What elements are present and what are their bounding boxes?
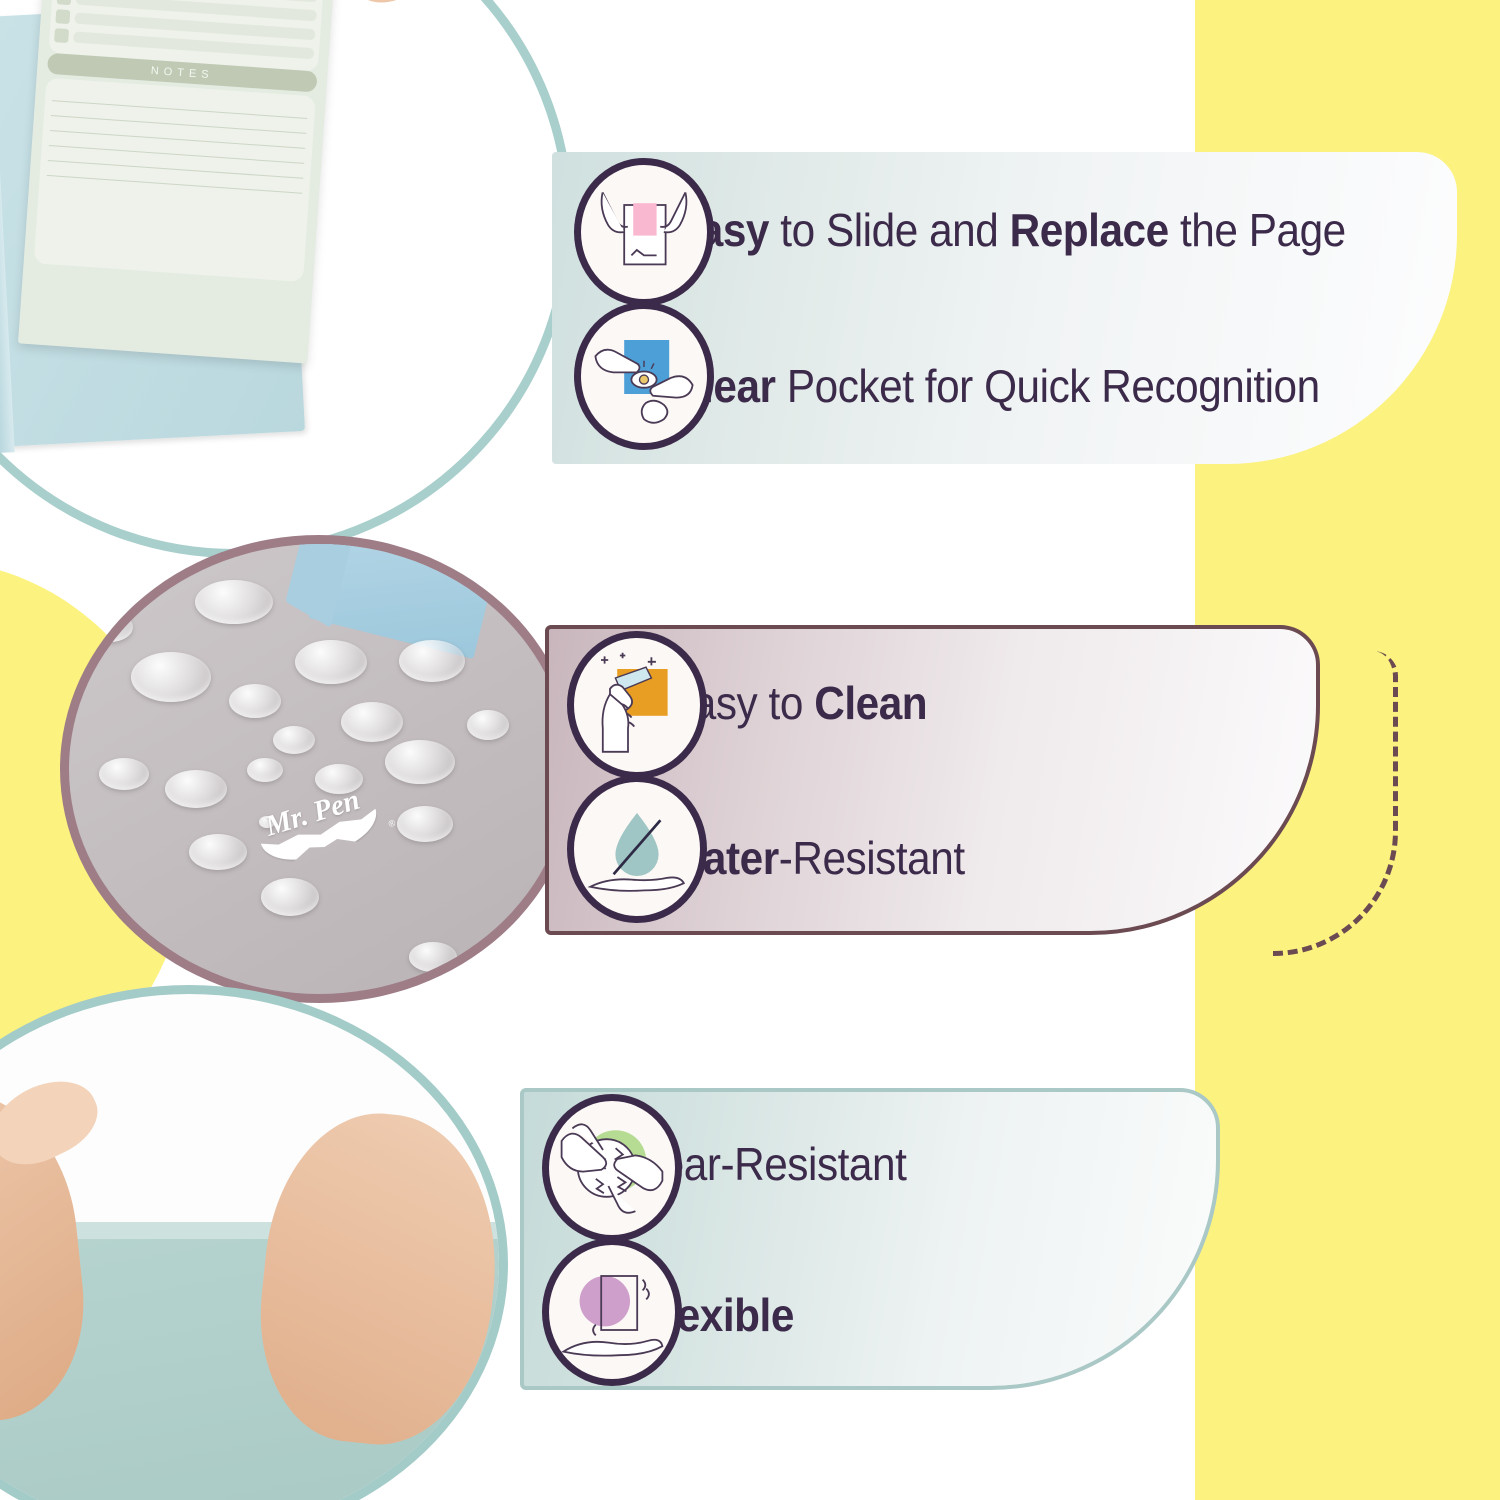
hands-bending-folder-photo <box>0 985 508 1500</box>
water-droplet <box>409 942 457 972</box>
feature-label: Clear Pocket for Quick Recognition <box>672 359 1320 413</box>
water-droplet <box>467 710 509 740</box>
water-droplet <box>165 770 227 808</box>
water-droplet <box>261 878 319 916</box>
checkbox-icon <box>54 28 69 43</box>
water-droplet <box>131 652 211 702</box>
flexible-card-on-hand-icon <box>542 1238 682 1386</box>
feature-label: Easy to Slide and Replace the Page <box>672 203 1346 257</box>
water-droplet <box>195 580 273 624</box>
water-droplet <box>87 612 133 642</box>
note-line <box>52 100 307 119</box>
hand-wiping-cloth-icon <box>567 631 707 779</box>
registered-mark: ® <box>387 818 396 830</box>
feature-banner-tear-flexible: Tear-Resistant Flexible <box>520 1088 1220 1390</box>
water-beading-photo: Mr. Pen ® <box>60 535 578 1003</box>
note-line <box>48 160 303 179</box>
water-droplet-no-icon <box>567 775 707 923</box>
notes-lines-area <box>34 78 316 282</box>
contents-notes-page-photo: CONTENTS NOTES <box>0 0 573 558</box>
water-droplet <box>341 702 403 742</box>
checkbox-icon <box>57 0 72 5</box>
feature-suffix: the Page <box>1169 204 1346 256</box>
feature-middle: to Slide and <box>769 204 1010 256</box>
feature-bold-mid: Clean <box>814 677 927 729</box>
note-line <box>51 115 306 134</box>
checkbox-icon <box>55 9 70 24</box>
water-droplet <box>399 640 465 682</box>
water-droplet <box>273 726 315 754</box>
feature-middle: -Resistant <box>779 832 965 884</box>
feature-banner-clean-water: Easy to Clean Water-Resistant <box>545 625 1320 935</box>
water-droplet <box>295 640 367 684</box>
feature-banner-slide-replace: Easy to Slide and Replace the Page Clear… <box>552 152 1457 464</box>
water-droplet <box>189 834 247 870</box>
note-line <box>47 175 302 194</box>
hands-sliding-page-icon <box>574 158 714 306</box>
water-droplet <box>229 684 281 718</box>
infographic-canvas: CONTENTS NOTES <box>0 0 1500 1500</box>
feature-bold-mid: Replace <box>1010 204 1169 256</box>
feature-middle: Pocket for Quick Recognition <box>776 360 1320 412</box>
water-droplet <box>247 758 283 782</box>
note-line <box>50 130 305 149</box>
note-line <box>49 145 304 164</box>
feature-middle: to <box>757 677 814 729</box>
clear-pocket-eye-icon <box>574 302 714 450</box>
feature-label: Water-Resistant <box>665 831 965 885</box>
water-droplet <box>99 758 149 790</box>
hands-tearing-sheet-icon <box>542 1094 682 1242</box>
contents-notes-page: CONTENTS NOTES <box>18 0 340 364</box>
